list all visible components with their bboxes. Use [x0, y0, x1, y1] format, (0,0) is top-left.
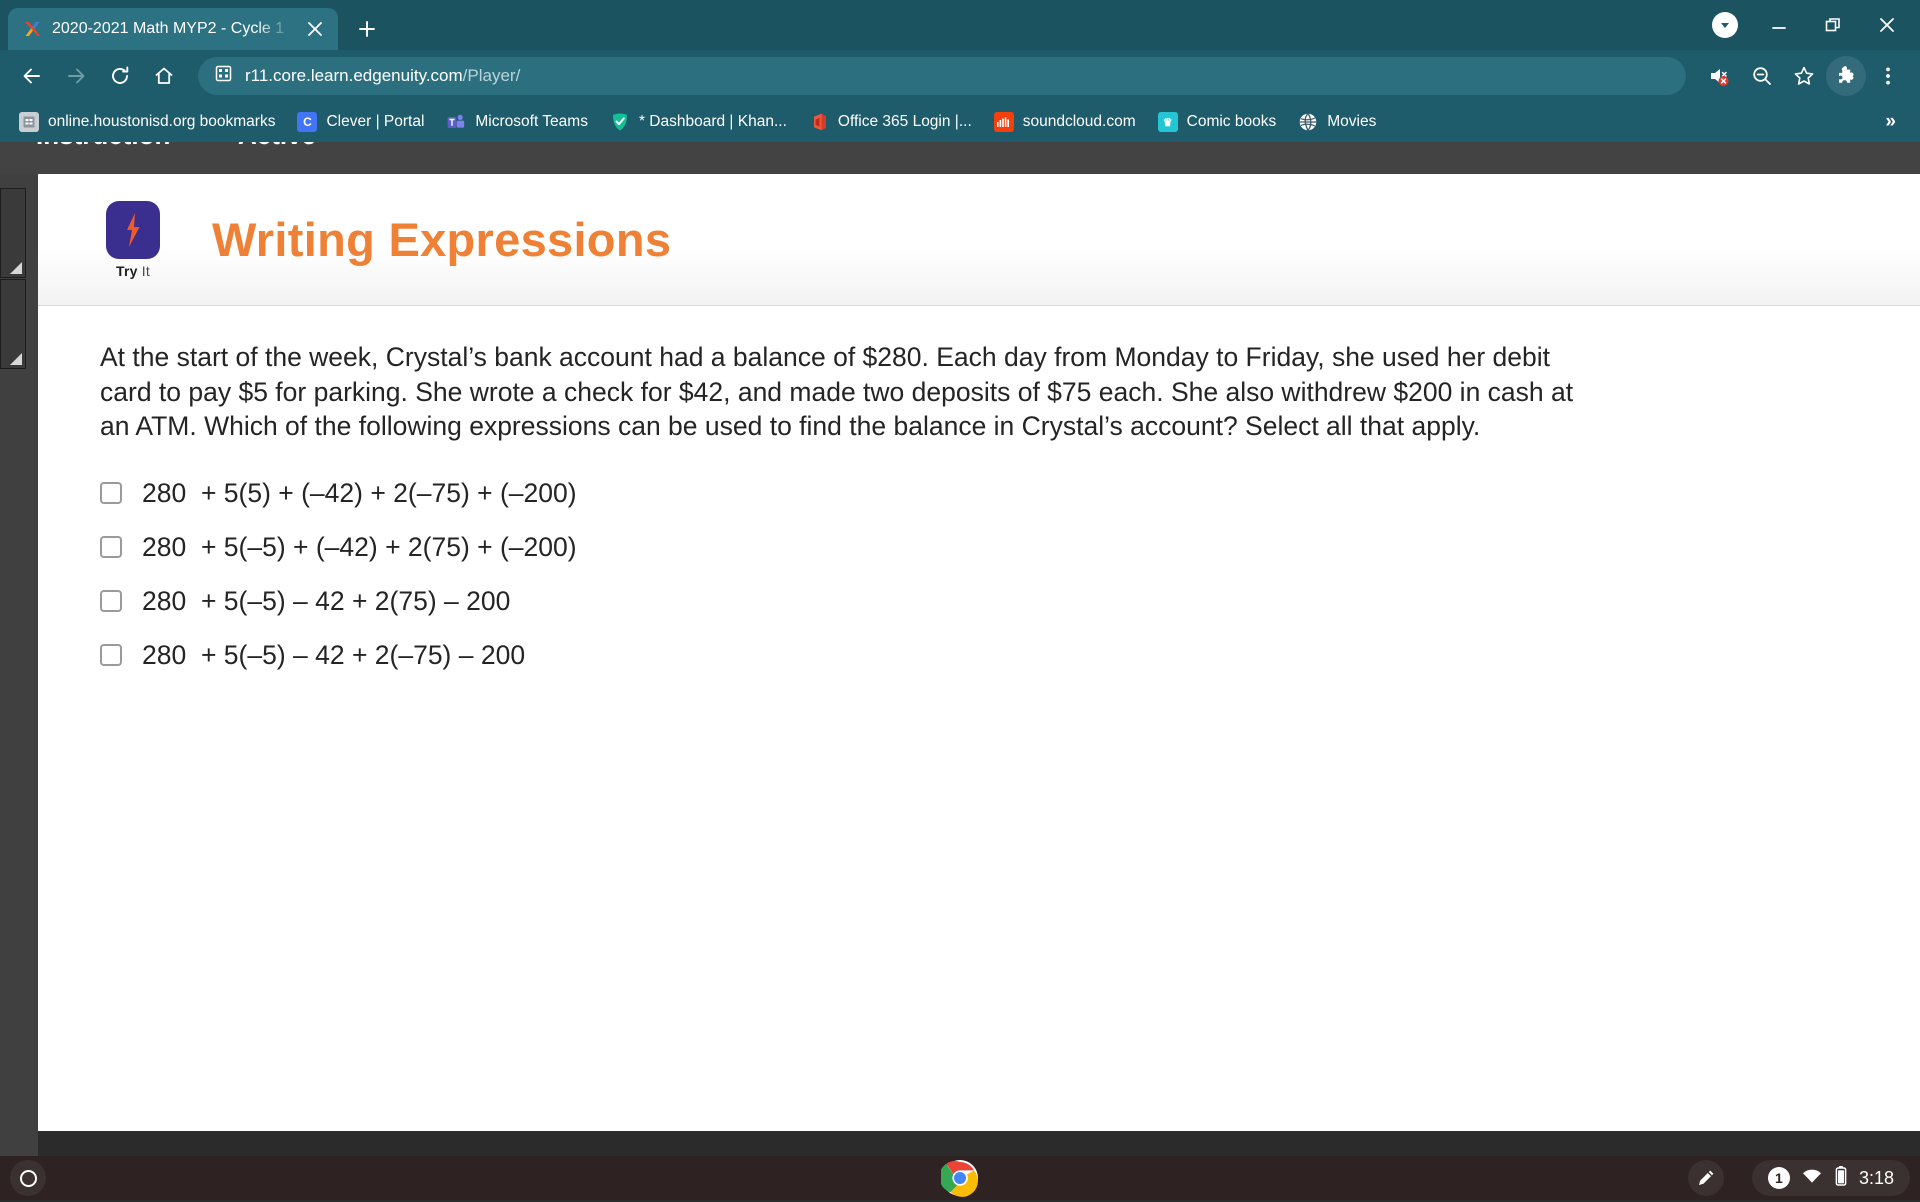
rail-panel-bottom[interactable] — [0, 279, 26, 369]
tab-strip: 2020-2021 Math MYP2 - Cycle 1 — [0, 0, 1920, 50]
answer-choice-3[interactable]: 280 + 5(–5) – 42 + 2(75) – 200 — [100, 574, 1860, 628]
bookmark-label: Microsoft Teams — [475, 113, 588, 131]
answer-checkbox[interactable] — [100, 536, 122, 558]
zoom-out-icon[interactable] — [1742, 56, 1782, 96]
bookmark-label: Office 365 Login |... — [838, 113, 972, 131]
answer-checkbox[interactable] — [100, 590, 122, 612]
resize-handle-icon[interactable] — [10, 262, 22, 274]
answer-choice-4[interactable]: 280 + 5(–5) – 42 + 2(–75) – 200 — [100, 628, 1860, 682]
media-muted-icon[interactable] — [1700, 56, 1740, 96]
lightning-bolt-icon — [120, 211, 146, 249]
question-body: At the start of the week, Crystal’s bank… — [38, 306, 1920, 682]
breadcrumb-active: Active — [238, 142, 316, 151]
extensions-puzzle-icon[interactable] — [1826, 56, 1866, 96]
folder-doc-icon — [19, 112, 39, 132]
chrome-menu-icon[interactable] — [1868, 56, 1908, 96]
edgenuity-x-favicon — [22, 19, 42, 39]
shelf-app-chrome[interactable] — [938, 1159, 982, 1202]
question-prompt: At the start of the week, Crystal’s bank… — [100, 340, 1600, 444]
clock[interactable]: 3:18 — [1859, 1168, 1894, 1189]
profile-caret-icon[interactable] — [1698, 2, 1752, 48]
office-365-icon — [809, 112, 829, 132]
rail-panel-top[interactable] — [0, 188, 26, 278]
breadcrumb-instruction: Instruction — [36, 142, 170, 151]
comic-books-icon: ♛ — [1158, 112, 1178, 132]
bookmark-label: online.houstonisd.org bookmarks — [48, 113, 275, 131]
answer-choice-1[interactable]: 280 + 5(5) + (–42) + 2(–75) + (–200) — [100, 466, 1860, 520]
bookmarks-overflow-button[interactable]: » — [1871, 111, 1910, 133]
bookmark-item-movies[interactable]: Movies — [1289, 108, 1385, 136]
tab-close-icon[interactable] — [302, 16, 328, 42]
chrome-browser-window: 2020-2021 Math MYP2 - Cycle 1 — [0, 0, 1920, 1156]
address-bar-url: r11.core.learn.edgenuity.com/Player/ — [245, 66, 520, 86]
reload-button[interactable] — [100, 56, 140, 96]
resize-handle-icon[interactable] — [10, 353, 22, 365]
launcher-circle-icon[interactable] — [10, 1160, 46, 1196]
bookmark-item-microsoft-teams[interactable]: Microsoft Teams — [437, 108, 597, 136]
microsoft-teams-icon — [446, 112, 466, 132]
page-title: Writing Expressions — [212, 212, 671, 267]
bookmark-item-khan-dashboard[interactable]: * Dashboard | Khan... — [601, 108, 796, 136]
page-bottom-strip — [38, 1131, 1920, 1156]
stylus-pen-icon[interactable] — [1688, 1160, 1724, 1196]
answer-choice-label: 280 + 5(5) + (–42) + 2(–75) + (–200) — [142, 478, 577, 509]
browser-tab[interactable]: 2020-2021 Math MYP2 - Cycle 1 — [8, 8, 338, 50]
wifi-icon[interactable] — [1801, 1167, 1823, 1190]
home-button[interactable] — [144, 56, 184, 96]
breadcrumb: Instruction Active — [0, 142, 1920, 174]
bookmark-star-icon[interactable] — [1784, 56, 1824, 96]
chromeos-shelf: 1 3:18 — [0, 1156, 1920, 1200]
bookmark-item-soundcloud[interactable]: soundcloud.com — [985, 108, 1145, 136]
try-it-badge-tile — [106, 201, 160, 259]
window-controls — [1698, 0, 1920, 50]
answer-choice-label: 280 + 5(–5) – 42 + 2(–75) – 200 — [142, 640, 525, 671]
bookmark-label: Comic books — [1187, 113, 1277, 131]
url-path: /Player/ — [463, 66, 521, 85]
soundcloud-icon — [994, 112, 1014, 132]
bookmark-label: Clever | Portal — [326, 113, 424, 131]
bookmark-item-office365[interactable]: Office 365 Login |... — [800, 108, 981, 136]
lesson-content-card: Try It Writing Expressions At the start … — [38, 174, 1920, 1131]
minimize-icon[interactable] — [1752, 2, 1806, 48]
bookmark-item-clever[interactable]: C Clever | Portal — [288, 108, 433, 136]
lesson-header: Try It Writing Expressions — [38, 174, 1920, 306]
try-it-badge: Try It — [100, 201, 166, 279]
answer-checkbox[interactable] — [100, 482, 122, 504]
clever-icon: C — [297, 112, 317, 132]
back-button[interactable] — [12, 56, 52, 96]
try-it-label: Try It — [116, 263, 150, 279]
maximize-restore-icon[interactable] — [1806, 2, 1860, 48]
close-window-icon[interactable] — [1860, 2, 1914, 48]
notification-count-badge[interactable]: 1 — [1768, 1167, 1790, 1189]
new-tab-button[interactable] — [348, 10, 386, 48]
answer-choice-label: 280 + 5(–5) – 42 + 2(75) – 200 — [142, 586, 510, 617]
tab-title: 2020-2021 Math MYP2 - Cycle 1 — [52, 20, 292, 38]
google-chrome-icon — [941, 1184, 979, 1201]
bookmarks-bar: online.houstonisd.org bookmarks C Clever… — [0, 102, 1920, 142]
url-host: r11.core.learn.edgenuity.com — [245, 66, 463, 85]
left-rail — [0, 174, 28, 1156]
answer-choice-label: 280 + 5(–5) + (–42) + 2(75) + (–200) — [142, 532, 577, 563]
browser-toolbar: r11.core.learn.edgenuity.com/Player/ — [0, 50, 1920, 102]
bookmark-item-comic-books[interactable]: ♛ Comic books — [1149, 108, 1286, 136]
toolbar-icon-group — [1700, 56, 1908, 96]
bookmark-label: Movies — [1327, 113, 1376, 131]
khan-academy-icon — [610, 112, 630, 132]
answer-checkbox[interactable] — [100, 644, 122, 666]
battery-icon[interactable] — [1834, 1165, 1848, 1192]
forward-button[interactable] — [56, 56, 96, 96]
page-viewport: Instruction Active Try It Writing Expres… — [0, 142, 1920, 1156]
answer-choice-2[interactable]: 280 + 5(–5) + (–42) + 2(75) + (–200) — [100, 520, 1860, 574]
building-site-icon — [214, 64, 233, 88]
bookmark-label: * Dashboard | Khan... — [639, 113, 787, 131]
answer-choices-list: 280 + 5(5) + (–42) + 2(–75) + (–200) 280… — [100, 466, 1860, 682]
bookmark-label: soundcloud.com — [1023, 113, 1136, 131]
address-bar[interactable]: r11.core.learn.edgenuity.com/Player/ — [198, 57, 1686, 95]
try-word: Try — [116, 263, 138, 279]
system-tray[interactable]: 1 3:18 — [1752, 1160, 1910, 1196]
it-word: It — [142, 263, 150, 279]
bookmark-item-houstonisd[interactable]: online.houstonisd.org bookmarks — [10, 108, 284, 136]
globe-icon — [1298, 112, 1318, 132]
